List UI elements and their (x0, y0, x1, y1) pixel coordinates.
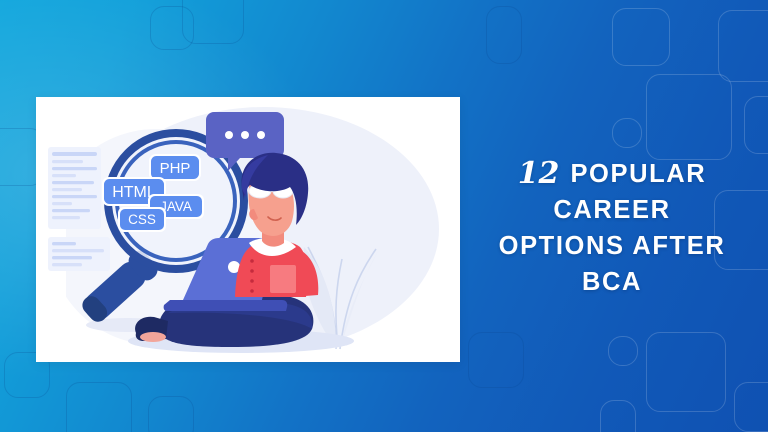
square-right-edge (744, 96, 768, 154)
code-doc-lower (48, 237, 110, 271)
square-right-upper-large (612, 8, 670, 66)
square-right-corner (734, 382, 768, 432)
tag-php: PHP (149, 154, 201, 181)
title-line-4: BCA (466, 264, 758, 300)
illustration: PHP HTML JAVA CSS (36, 97, 460, 362)
title-word-popular: POPULAR (570, 156, 706, 192)
square-card-right (468, 332, 524, 388)
square-right-bottom-edge (600, 400, 636, 432)
code-doc-upper (48, 147, 101, 229)
title-line-1: 12 POPULAR (466, 155, 758, 192)
square-bottom-mid (148, 396, 194, 432)
title-line-3: OPTIONS AFTER (466, 228, 758, 264)
poster-stage: PHP HTML JAVA CSS (0, 0, 768, 432)
square-right-top-big (718, 10, 768, 82)
square-right-bottom (608, 336, 638, 366)
featured-image-card: PHP HTML JAVA CSS (36, 97, 460, 362)
title-number: 12 (518, 156, 560, 192)
square-right-small (612, 118, 642, 148)
svg-text:CSS: CSS (128, 212, 156, 227)
foot-sole (140, 332, 166, 342)
title-line-2: CAREER (466, 192, 758, 228)
svg-text:PHP: PHP (160, 160, 191, 177)
blob-mask-left (36, 97, 66, 362)
square-right-mid-big (646, 74, 732, 160)
square-top-mid (150, 6, 194, 50)
square-bottom-left (66, 382, 132, 432)
pocket (270, 265, 296, 293)
tag-css: CSS (118, 207, 166, 232)
title-block: 12 POPULAR CAREER OPTIONS AFTER BCA (466, 155, 758, 300)
square-right-upper-mid (486, 6, 522, 64)
square-right-bottom-big (646, 332, 726, 412)
